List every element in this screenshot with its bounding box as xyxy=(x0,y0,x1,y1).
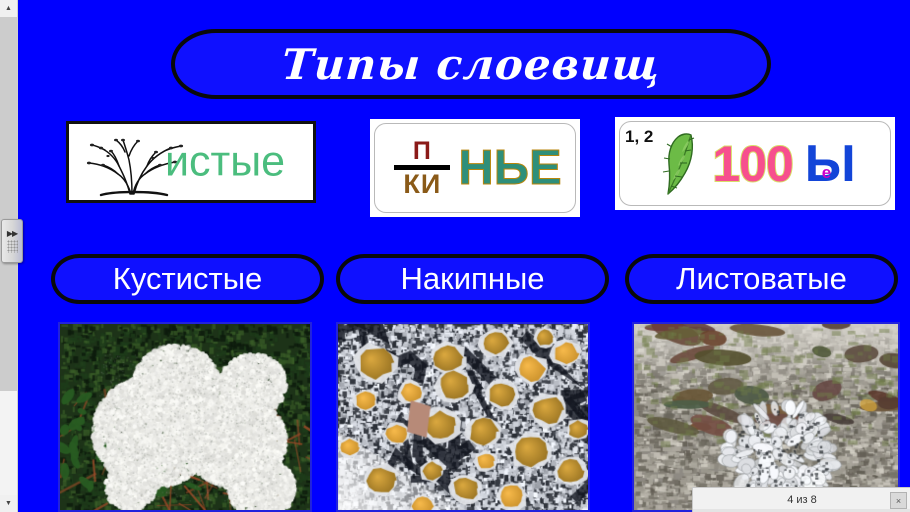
scrollbar-thumb[interactable] xyxy=(0,17,17,391)
leaf-drawing-icon xyxy=(658,131,702,197)
rebus-fraction: П КИ xyxy=(394,139,450,198)
photo-fruticose-lichen xyxy=(58,322,312,512)
photo-canvas xyxy=(338,324,588,510)
page-indicator: 4 из 8 xyxy=(787,494,817,506)
scroll-up-arrow[interactable]: ▲ xyxy=(0,0,17,17)
scroll-up-glyph: ▲ xyxy=(5,5,12,12)
close-icon[interactable]: × xyxy=(890,492,907,509)
rebus-inner-letter: е xyxy=(822,164,831,181)
slide-title-box: Типы слоевищ xyxy=(171,29,771,99)
scroll-down-arrow[interactable]: ▼ xyxy=(0,495,17,512)
double-chevron-right-icon: ▶▶ xyxy=(7,230,17,238)
grip-dots-icon xyxy=(7,240,18,253)
rebus-word-fragment: НЬЕ xyxy=(458,144,561,193)
rebus-card-listovatye: 1, 2 xyxy=(615,117,895,210)
photo-canvas xyxy=(634,324,898,510)
rebus-number-hint: 1, 2 xyxy=(625,127,653,147)
photo-foliose-lichen xyxy=(632,322,900,512)
rebus-card-kustistye: истые xyxy=(66,121,316,203)
answer-label-listovatye: Листоватые xyxy=(625,254,898,304)
rebus-word-fragment: истые xyxy=(165,141,285,184)
page-title: Типы слоевищ xyxy=(280,40,662,89)
scrollbar-track[interactable] xyxy=(0,391,17,495)
rebus-digits: 100 xyxy=(712,139,792,189)
rebus-letter: Ы е xyxy=(805,138,856,190)
scroll-down-glyph: ▼ xyxy=(5,500,12,507)
fraction-numerator: П xyxy=(413,139,432,164)
fraction-denominator: КИ xyxy=(403,171,441,198)
photo-crustose-lichen xyxy=(336,322,590,512)
panel-splitter-handle[interactable]: ▶▶ xyxy=(1,219,23,263)
status-bar: 4 из 8 × xyxy=(692,487,910,512)
answer-label-text: Кустистые xyxy=(113,261,262,297)
answer-label-nakipnye: Накипные xyxy=(336,254,609,304)
answer-label-kustistye: Кустистые xyxy=(51,254,324,304)
rebus-card-nakipnye: П КИ НЬЕ xyxy=(370,119,580,217)
answer-label-text: Листоватые xyxy=(676,261,847,297)
photo-canvas xyxy=(60,324,310,510)
presentation-viewer: ▲ ▼ ▶▶ Типы слоевищ xyxy=(0,0,910,512)
slide-canvas: Типы слоевищ xyxy=(18,0,910,512)
answer-label-text: Накипные xyxy=(401,261,545,297)
